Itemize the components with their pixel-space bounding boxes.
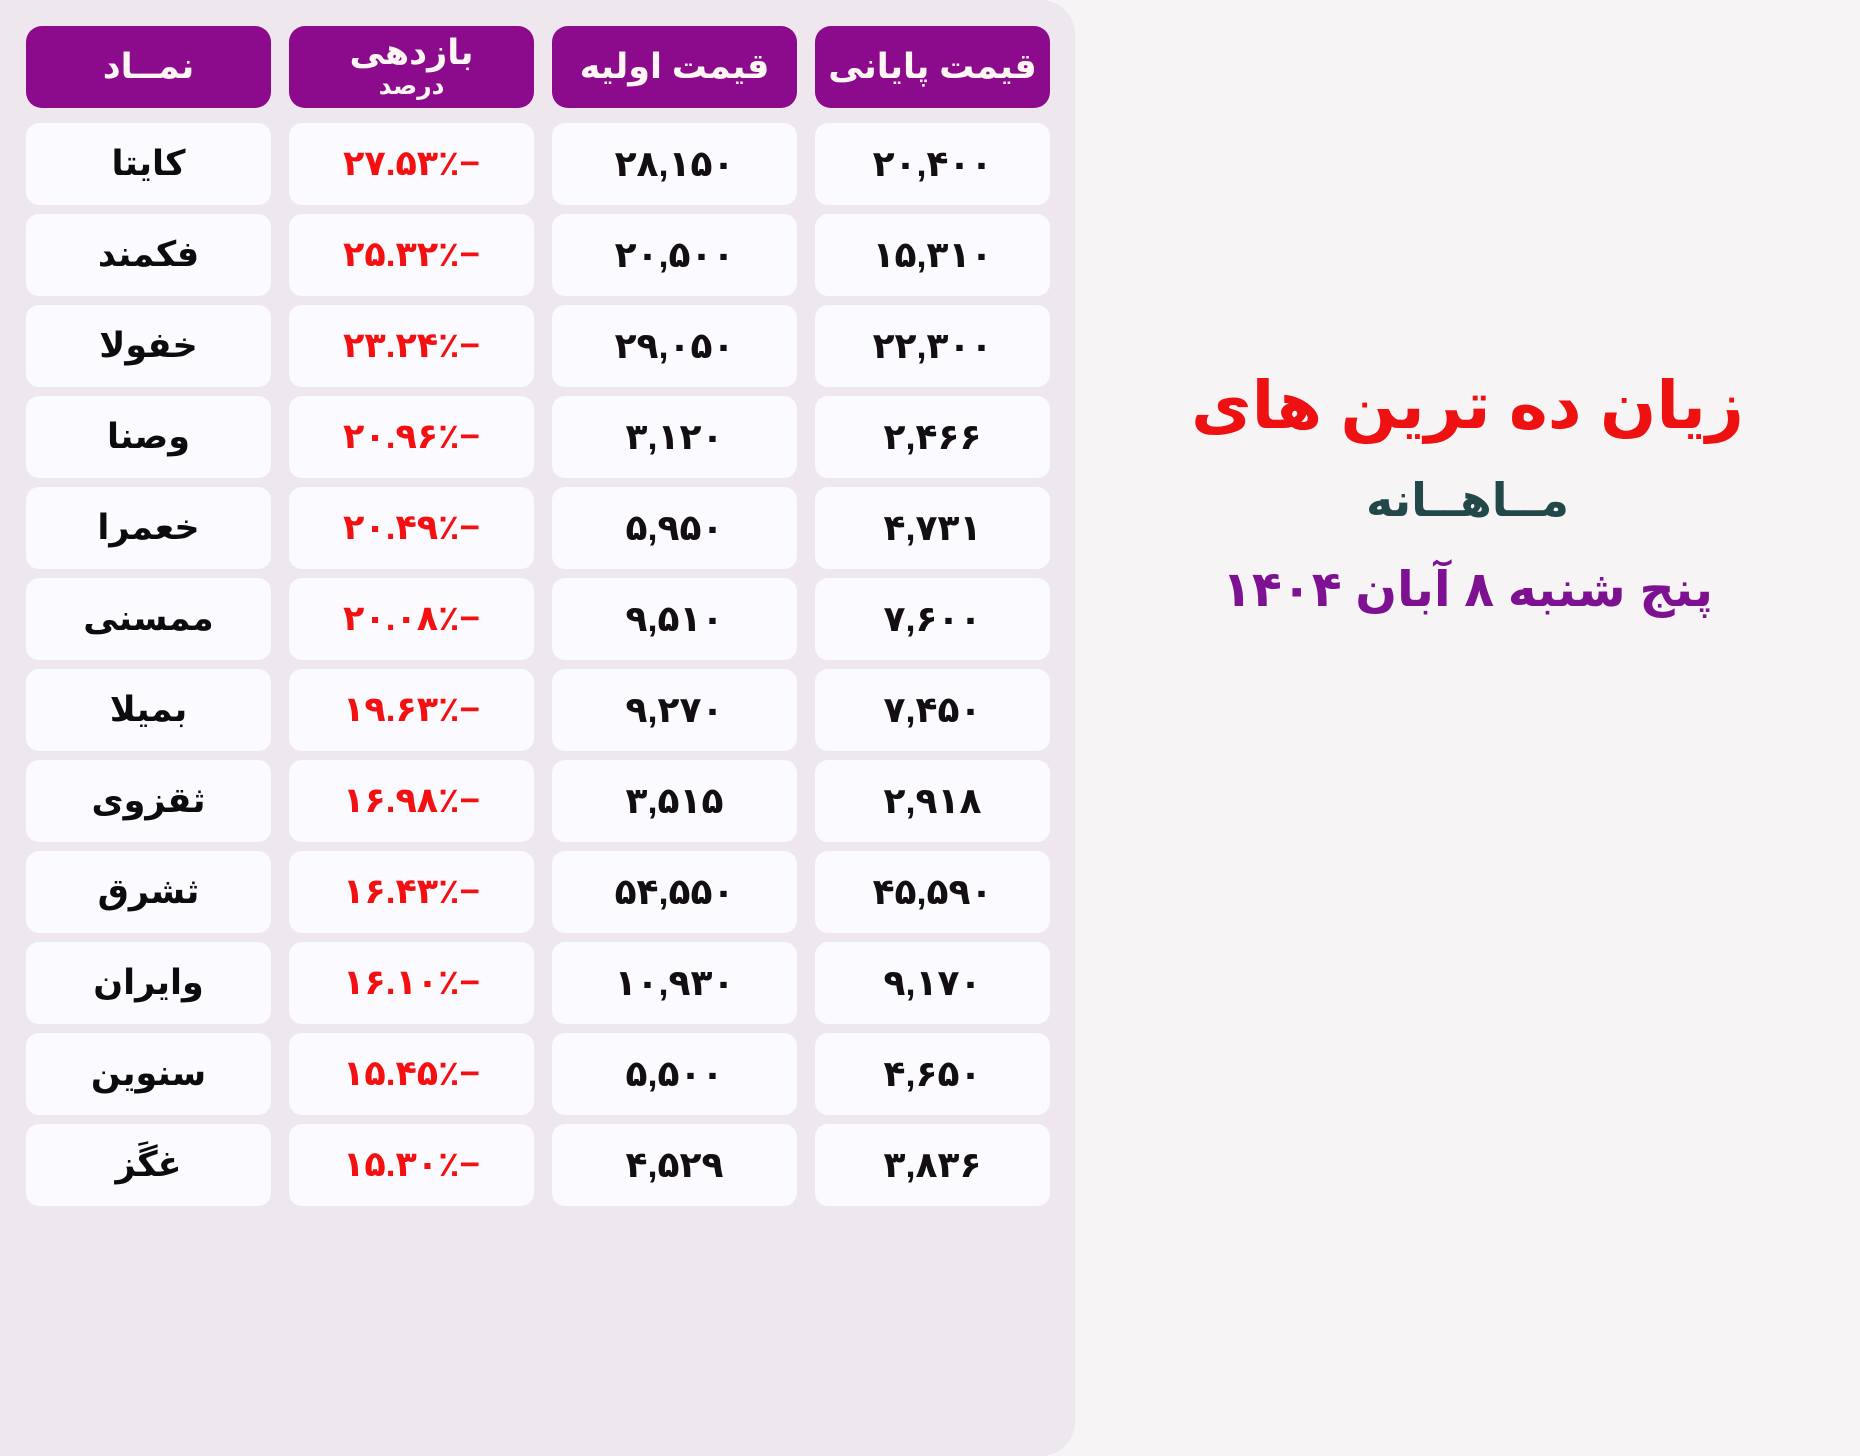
table-row[interactable]: ۲۰,۴۰۰۲۸,۱۵۰−۲۷.۵۳٪کایتا [26, 123, 1049, 205]
cell-closing-price: ۴,۶۵۰ [815, 1033, 1050, 1115]
losers-table: قیمت پایانی قیمت اولیه بازدهی درصد نمــا… [26, 26, 1049, 1434]
cell-symbol: ثقزوی [26, 760, 271, 842]
table-row[interactable]: ۳,۸۳۶۴,۵۲۹−۱۵.۳۰٪غگَز [26, 1124, 1049, 1206]
column-header-closing-price[interactable]: قیمت پایانی [815, 26, 1050, 108]
caption-subtitle: مــاهــانه [1366, 473, 1569, 527]
cell-symbol: خفولا [26, 305, 271, 387]
table-body: ۲۰,۴۰۰۲۸,۱۵۰−۲۷.۵۳٪کایتا۱۵,۳۱۰۲۰,۵۰۰−۲۵.… [26, 123, 1049, 1206]
table-row[interactable]: ۷,۶۰۰۹,۵۱۰−۲۰.۰۸٪ممسنی [26, 578, 1049, 660]
cell-symbol: فکمند [26, 214, 271, 296]
table-row[interactable]: ۲,۴۶۶۳,۱۲۰−۲۰.۹۶٪وصنا [26, 396, 1049, 478]
cell-return-percent: −۲۰.۴۹٪ [289, 487, 534, 569]
cell-symbol: ثشرق [26, 851, 271, 933]
cell-symbol: سنوین [26, 1033, 271, 1115]
cell-return-percent: −۲۳.۲۴٪ [289, 305, 534, 387]
cell-closing-price: ۷,۴۵۰ [815, 669, 1050, 751]
caption-block: زیان ده ترین های مــاهــانه پنج شنبه ۸ آ… [1075, 0, 1860, 1456]
cell-initial-price: ۹,۵۱۰ [552, 578, 797, 660]
column-header-return-percent[interactable]: بازدهی درصد [289, 26, 534, 108]
cell-symbol: غگَز [26, 1124, 271, 1206]
cell-symbol: بمیلا [26, 669, 271, 751]
column-header-symbol[interactable]: نمــاد [26, 26, 271, 108]
cell-initial-price: ۳,۱۲۰ [552, 396, 797, 478]
cell-initial-price: ۵,۹۵۰ [552, 487, 797, 569]
column-header-symbol-label: نمــاد [103, 48, 195, 86]
cell-return-percent: −۲۷.۵۳٪ [289, 123, 534, 205]
cell-return-percent: −۲۰.۰۸٪ [289, 578, 534, 660]
cell-closing-price: ۲۲,۳۰۰ [815, 305, 1050, 387]
table-row[interactable]: ۴,۷۳۱۵,۹۵۰−۲۰.۴۹٪خعمرا [26, 487, 1049, 569]
cell-closing-price: ۳,۸۳۶ [815, 1124, 1050, 1206]
cell-symbol: ممسنی [26, 578, 271, 660]
column-header-closing-price-label: قیمت پایانی [828, 48, 1037, 86]
screenshot-root: قیمت پایانی قیمت اولیه بازدهی درصد نمــا… [0, 0, 1860, 1456]
cell-symbol: خعمرا [26, 487, 271, 569]
cell-symbol: کایتا [26, 123, 271, 205]
cell-initial-price: ۲۸,۱۵۰ [552, 123, 797, 205]
cell-closing-price: ۲,۴۶۶ [815, 396, 1050, 478]
cell-closing-price: ۱۵,۳۱۰ [815, 214, 1050, 296]
table-row[interactable]: ۷,۴۵۰۹,۲۷۰−۱۹.۶۳٪بمیلا [26, 669, 1049, 751]
cell-initial-price: ۲۹,۰۵۰ [552, 305, 797, 387]
cell-return-percent: −۲۵.۳۲٪ [289, 214, 534, 296]
column-header-initial-price-label: قیمت اولیه [580, 48, 770, 86]
cell-return-percent: −۲۰.۹۶٪ [289, 396, 534, 478]
cell-initial-price: ۲۰,۵۰۰ [552, 214, 797, 296]
table-row[interactable]: ۱۵,۳۱۰۲۰,۵۰۰−۲۵.۳۲٪فکمند [26, 214, 1049, 296]
cell-return-percent: −۱۵.۴۵٪ [289, 1033, 534, 1115]
caption-title: زیان ده ترین های [1191, 368, 1744, 444]
cell-return-percent: −۱۵.۳۰٪ [289, 1124, 534, 1206]
table-row[interactable]: ۴,۶۵۰۵,۵۰۰−۱۵.۴۵٪سنوین [26, 1033, 1049, 1115]
cell-initial-price: ۳,۵۱۵ [552, 760, 797, 842]
column-header-return-percent-sublabel: درصد [379, 73, 445, 100]
table-row[interactable]: ۲,۹۱۸۳,۵۱۵−۱۶.۹۸٪ثقزوی [26, 760, 1049, 842]
cell-return-percent: −۱۹.۶۳٪ [289, 669, 534, 751]
cell-symbol: وصنا [26, 396, 271, 478]
cell-return-percent: −۱۶.۴۳٪ [289, 851, 534, 933]
column-header-return-percent-label: بازدهی [349, 34, 473, 72]
table-panel: قیمت پایانی قیمت اولیه بازدهی درصد نمــا… [0, 0, 1075, 1456]
cell-initial-price: ۵۴,۵۵۰ [552, 851, 797, 933]
cell-initial-price: ۵,۵۰۰ [552, 1033, 797, 1115]
cell-initial-price: ۱۰,۹۳۰ [552, 942, 797, 1024]
table-header-row: قیمت پایانی قیمت اولیه بازدهی درصد نمــا… [26, 26, 1049, 108]
cell-closing-price: ۲۰,۴۰۰ [815, 123, 1050, 205]
cell-initial-price: ۹,۲۷۰ [552, 669, 797, 751]
cell-closing-price: ۹,۱۷۰ [815, 942, 1050, 1024]
cell-symbol: وایران [26, 942, 271, 1024]
cell-closing-price: ۷,۶۰۰ [815, 578, 1050, 660]
cell-closing-price: ۲,۹۱۸ [815, 760, 1050, 842]
cell-return-percent: −۱۶.۱۰٪ [289, 942, 534, 1024]
table-row[interactable]: ۲۲,۳۰۰۲۹,۰۵۰−۲۳.۲۴٪خفولا [26, 305, 1049, 387]
caption-date: پنج شنبه ۸ آبان ۱۴۰۴ [1222, 561, 1713, 618]
table-row[interactable]: ۹,۱۷۰۱۰,۹۳۰−۱۶.۱۰٪وایران [26, 942, 1049, 1024]
cell-closing-price: ۴,۷۳۱ [815, 487, 1050, 569]
cell-return-percent: −۱۶.۹۸٪ [289, 760, 534, 842]
column-header-initial-price[interactable]: قیمت اولیه [552, 26, 797, 108]
cell-closing-price: ۴۵,۵۹۰ [815, 851, 1050, 933]
cell-initial-price: ۴,۵۲۹ [552, 1124, 797, 1206]
table-row[interactable]: ۴۵,۵۹۰۵۴,۵۵۰−۱۶.۴۳٪ثشرق [26, 851, 1049, 933]
